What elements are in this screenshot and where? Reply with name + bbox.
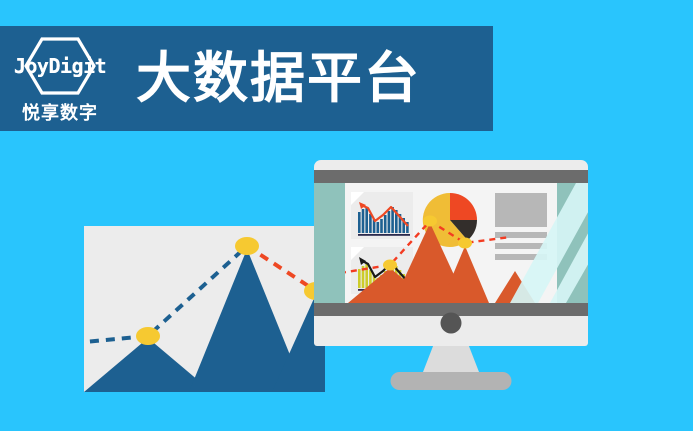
orange-chart-node-3 [458,238,472,249]
blue-chart-arrow [359,202,366,209]
monitor-stand-neck [423,346,479,372]
logo[interactable]: JoyDigit 悦享数字 [0,26,120,131]
logo-wordmark-digit: Digit [48,54,106,78]
monitor-stand-base [391,372,512,390]
monitor-screen-content [345,183,557,303]
orange-chart-node-1 [383,260,397,271]
desktop-monitor [314,160,588,346]
monitor-top-bezel [314,170,588,183]
chart-node-1 [136,327,160,345]
logo-wordmark-joy: Joy [14,54,49,78]
header-bar: JoyDigit 悦享数字 大数据平台 [0,26,493,131]
monitor-power-dot[interactable] [441,313,462,334]
chart-node-2 [235,237,259,255]
monitor-screen [314,183,588,303]
page-title: 大数据平台 [136,51,421,106]
left-mountain-chart-svg [84,226,325,392]
left-mountain-chart-panel [84,226,325,392]
logo-hex-wrap: JoyDigit [6,35,114,97]
orange-chart-node-2 [423,216,437,227]
orange-mountain-far-right [495,271,535,303]
banner-root: JoyDigit 悦享数字 大数据平台 [0,0,693,431]
orange-mountain-chart [345,213,557,303]
logo-chinese-name: 悦享数字 [22,104,98,122]
logo-wordmark: JoyDigit [14,56,106,76]
